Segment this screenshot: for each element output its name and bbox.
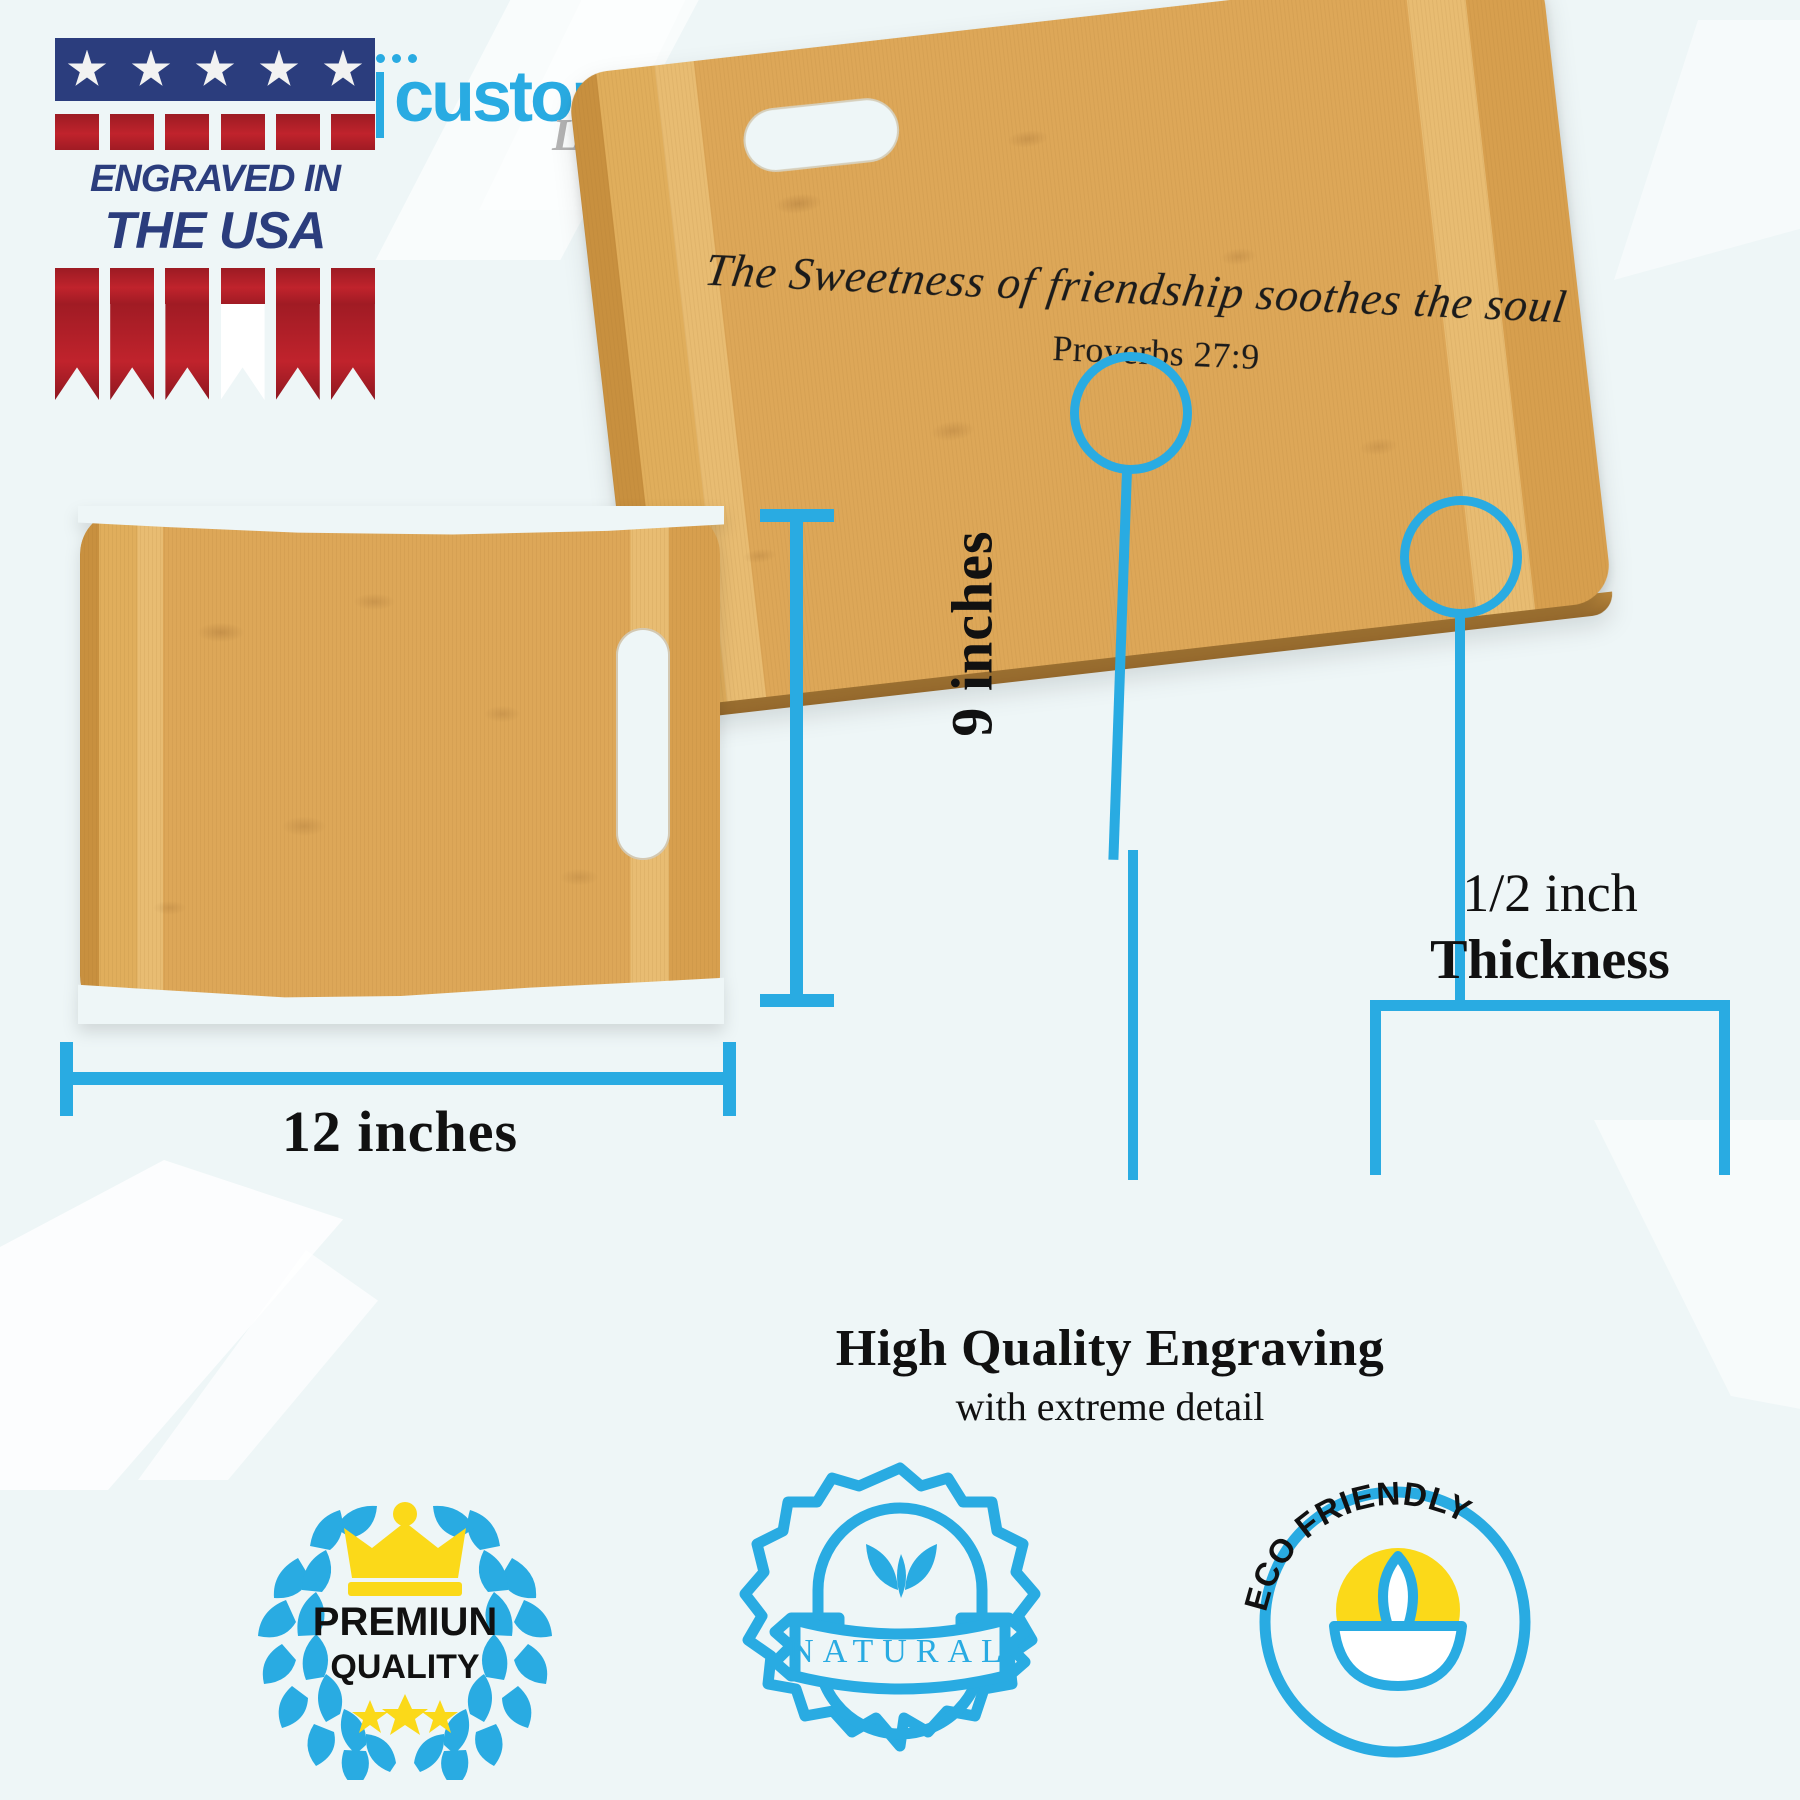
plain-cutting-board [80,510,720,1020]
stripe [165,114,209,150]
stripe [276,268,320,304]
engraving-caption-subtitle: with extreme detail [700,1380,1520,1434]
stripe [110,114,154,150]
product-infographic: ENGRAVED IN THE USA custom Label [0,0,1800,1800]
stripe [331,268,375,304]
badge-eco-friendly: ECO FRIENDLY [1230,1450,1560,1780]
vertical-bar-icon [376,72,384,138]
thickness-word: Thickness [1340,926,1760,994]
flag-stripes-bottom [55,268,375,304]
ribbon-tail [276,304,320,400]
width-dimension-line [62,1072,734,1085]
flag-stripes-top [55,114,375,150]
height-dimension-line [790,514,803,1002]
star-icon [67,50,107,90]
thickness-bracket-top [1370,1000,1730,1011]
star-icon [323,50,363,90]
ribbon-tail [55,304,99,400]
engraved-in-usa-badge: ENGRAVED IN THE USA [55,38,375,368]
thickness-bracket-left [1370,1000,1381,1175]
engraving-leader-line [1128,850,1138,1180]
stripe [55,268,99,304]
usa-badge-text: ENGRAVED IN THE USA [55,156,375,260]
trust-badges-row: PREMIUN QUALITY [240,1450,1560,1780]
board-handle-hole [616,628,670,860]
premium-stars [352,1694,458,1735]
height-dimension-cap-top [760,509,834,522]
badge-premium-quality: PREMIUN QUALITY [240,1450,570,1780]
stripe [221,268,265,304]
scalloped-badge-icon [745,1468,1035,1746]
flag-ribbon-tails [55,304,375,400]
usa-badge-line2: THE USA [55,202,375,260]
ribbon-tail [110,304,154,400]
badge-premium-line1: PREMIUN [313,1600,497,1644]
badge-natural-ribbon-text: NATURAL [789,1633,1011,1670]
stripe [276,114,320,150]
leaf-icon [866,1544,937,1598]
stripe [110,268,154,304]
brush-stroke-decoration [1560,20,1800,280]
ribbon-tail [221,304,265,400]
stripe [221,114,265,150]
stripe [331,114,375,150]
ribbon-tail [165,304,209,400]
star-icon [131,50,171,90]
thickness-bracket-right [1719,1000,1730,1175]
thickness-value: 1/2 inch [1340,860,1760,926]
ribbon-tail [331,304,375,400]
flag-stars-band [55,38,375,101]
stripe [165,268,209,304]
badge-premium-line2: QUALITY [330,1648,480,1686]
stripe [55,114,99,150]
engraving-caption-title: High Quality Engraving [700,1318,1520,1380]
thickness-zoom-circle [1400,496,1522,618]
engraving-zoom-circle [1070,352,1192,474]
height-label: 9 inches [939,474,1006,794]
star-icon [195,50,235,90]
usa-badge-line1: ENGRAVED IN [55,156,375,202]
thickness-label: 1/2 inch Thickness [1340,860,1760,994]
badge-natural: NATURAL [735,1450,1065,1780]
width-label: 12 inches [60,1098,740,1165]
brush-stroke-decoration [1480,1120,1800,1420]
engraving-quality-caption: High Quality Engraving with extreme deta… [700,1318,1520,1434]
height-dimension-cap-bottom [760,994,834,1007]
star-icon [259,50,299,90]
